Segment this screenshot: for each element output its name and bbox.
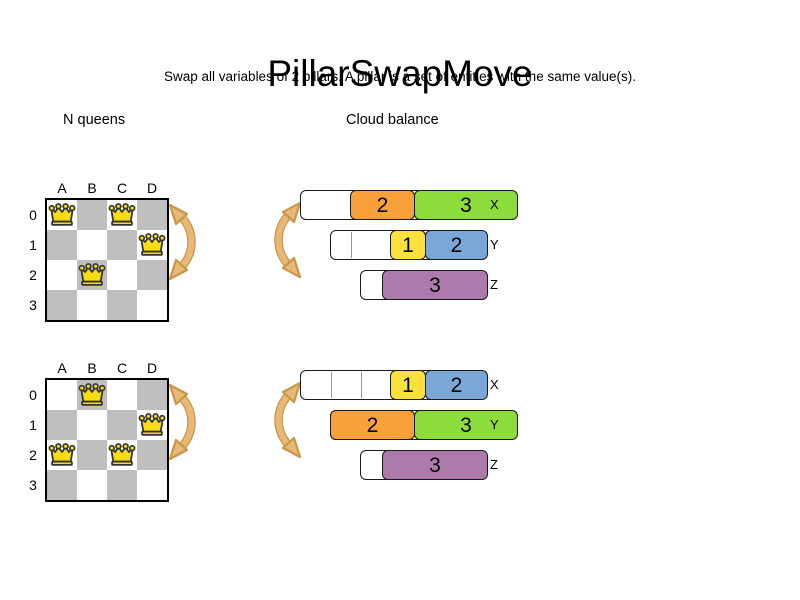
board-cell-B1[interactable] — [77, 410, 107, 440]
board-cell-A3[interactable] — [47, 290, 77, 320]
board-cell-A2[interactable] — [47, 440, 77, 470]
cloud-process-X-2[interactable]: 2 — [425, 370, 488, 400]
board-column-label-A: A — [47, 180, 77, 196]
board-cell-C0[interactable] — [107, 200, 137, 230]
board-row-label-1: 1 — [25, 417, 41, 433]
board-column-label-A: A — [47, 360, 77, 376]
board-cell-D0[interactable] — [137, 380, 167, 410]
board-grid — [45, 198, 169, 322]
board-row-label-3: 3 — [25, 477, 41, 493]
board-row-label-0: 0 — [25, 387, 41, 403]
board-cell-C2[interactable] — [107, 440, 137, 470]
cloud-computer-label-Y: Y — [490, 236, 510, 254]
board-row-label-2: 2 — [25, 447, 41, 463]
board-cell-A0[interactable] — [47, 380, 77, 410]
board-column-label-B: B — [77, 180, 107, 196]
board-cell-C3[interactable] — [107, 470, 137, 500]
cloud-computer-label-X: X — [490, 376, 510, 394]
board-cell-B1[interactable] — [77, 230, 107, 260]
cloud-computer-label-Z: Z — [490, 276, 510, 294]
cloud-process-Z-3[interactable]: 3 — [382, 450, 488, 480]
cloud-track-divider — [331, 372, 332, 398]
cloud-process-Y-2[interactable]: 2 — [425, 230, 488, 260]
section-heading-cloud: Cloud balance — [346, 111, 439, 129]
board-column-label-D: D — [137, 360, 167, 376]
board-cell-A1[interactable] — [47, 410, 77, 440]
board-cell-C2[interactable] — [107, 260, 137, 290]
board-cell-A1[interactable] — [47, 230, 77, 260]
board-cell-D1[interactable] — [137, 410, 167, 440]
board-row-label-3: 3 — [25, 297, 41, 313]
cloud-computer-label-Y: Y — [490, 416, 510, 434]
board-cell-B3[interactable] — [77, 470, 107, 500]
page-subtitle: Swap all variables of 2 pillars. A pilla… — [0, 68, 800, 86]
board-column-label-D: D — [137, 180, 167, 196]
board-swap-arrow-1 — [168, 200, 202, 284]
board-row-label-2: 2 — [25, 267, 41, 283]
cloud-process-X-1[interactable]: 1 — [390, 370, 426, 400]
board-cell-A2[interactable] — [47, 260, 77, 290]
board-swap-arrow-2 — [168, 380, 202, 464]
section-heading-nqueens: N queens — [63, 111, 125, 129]
cloud-row-Y: 12Y — [290, 230, 510, 260]
board-cell-D0[interactable] — [137, 200, 167, 230]
board-cell-C1[interactable] — [107, 410, 137, 440]
board-cell-B2[interactable] — [77, 260, 107, 290]
board-column-label-C: C — [107, 360, 137, 376]
board-cell-D3[interactable] — [137, 290, 167, 320]
cloud-process-Z-3[interactable]: 3 — [382, 270, 488, 300]
board-row-label-0: 0 — [25, 207, 41, 223]
cloud-computer-label-Z: Z — [490, 456, 510, 474]
board-cell-B2[interactable] — [77, 440, 107, 470]
board-cell-D3[interactable] — [137, 470, 167, 500]
board-grid — [45, 378, 169, 502]
board-cell-C0[interactable] — [107, 380, 137, 410]
board-cell-C1[interactable] — [107, 230, 137, 260]
board-cell-A3[interactable] — [47, 470, 77, 500]
board-column-label-B: B — [77, 360, 107, 376]
board-row-label-1: 1 — [25, 237, 41, 253]
board-column-label-C: C — [107, 180, 137, 196]
board-cell-B0[interactable] — [77, 380, 107, 410]
cloud-process-Y-1[interactable]: 1 — [390, 230, 426, 260]
cloud-row-Y: 23Y — [290, 410, 510, 440]
cloud-row-Z: 3Z — [290, 270, 510, 300]
board-cell-D1[interactable] — [137, 230, 167, 260]
board-cell-B0[interactable] — [77, 200, 107, 230]
cloud-process-X-2[interactable]: 2 — [350, 190, 415, 220]
cloud-process-Y-2[interactable]: 2 — [330, 410, 415, 440]
board-cell-C3[interactable] — [107, 290, 137, 320]
cloud-row-Z: 3Z — [290, 450, 510, 480]
board-cell-B3[interactable] — [77, 290, 107, 320]
board-cell-D2[interactable] — [137, 260, 167, 290]
cloud-computer-label-X: X — [490, 196, 510, 214]
cloud-row-X: 12X — [290, 370, 510, 400]
board-cell-A0[interactable] — [47, 200, 77, 230]
cloud-track-divider — [361, 372, 362, 398]
cloud-row-X: 23X — [290, 190, 510, 220]
board-cell-D2[interactable] — [137, 440, 167, 470]
cloud-track-divider — [351, 232, 352, 258]
